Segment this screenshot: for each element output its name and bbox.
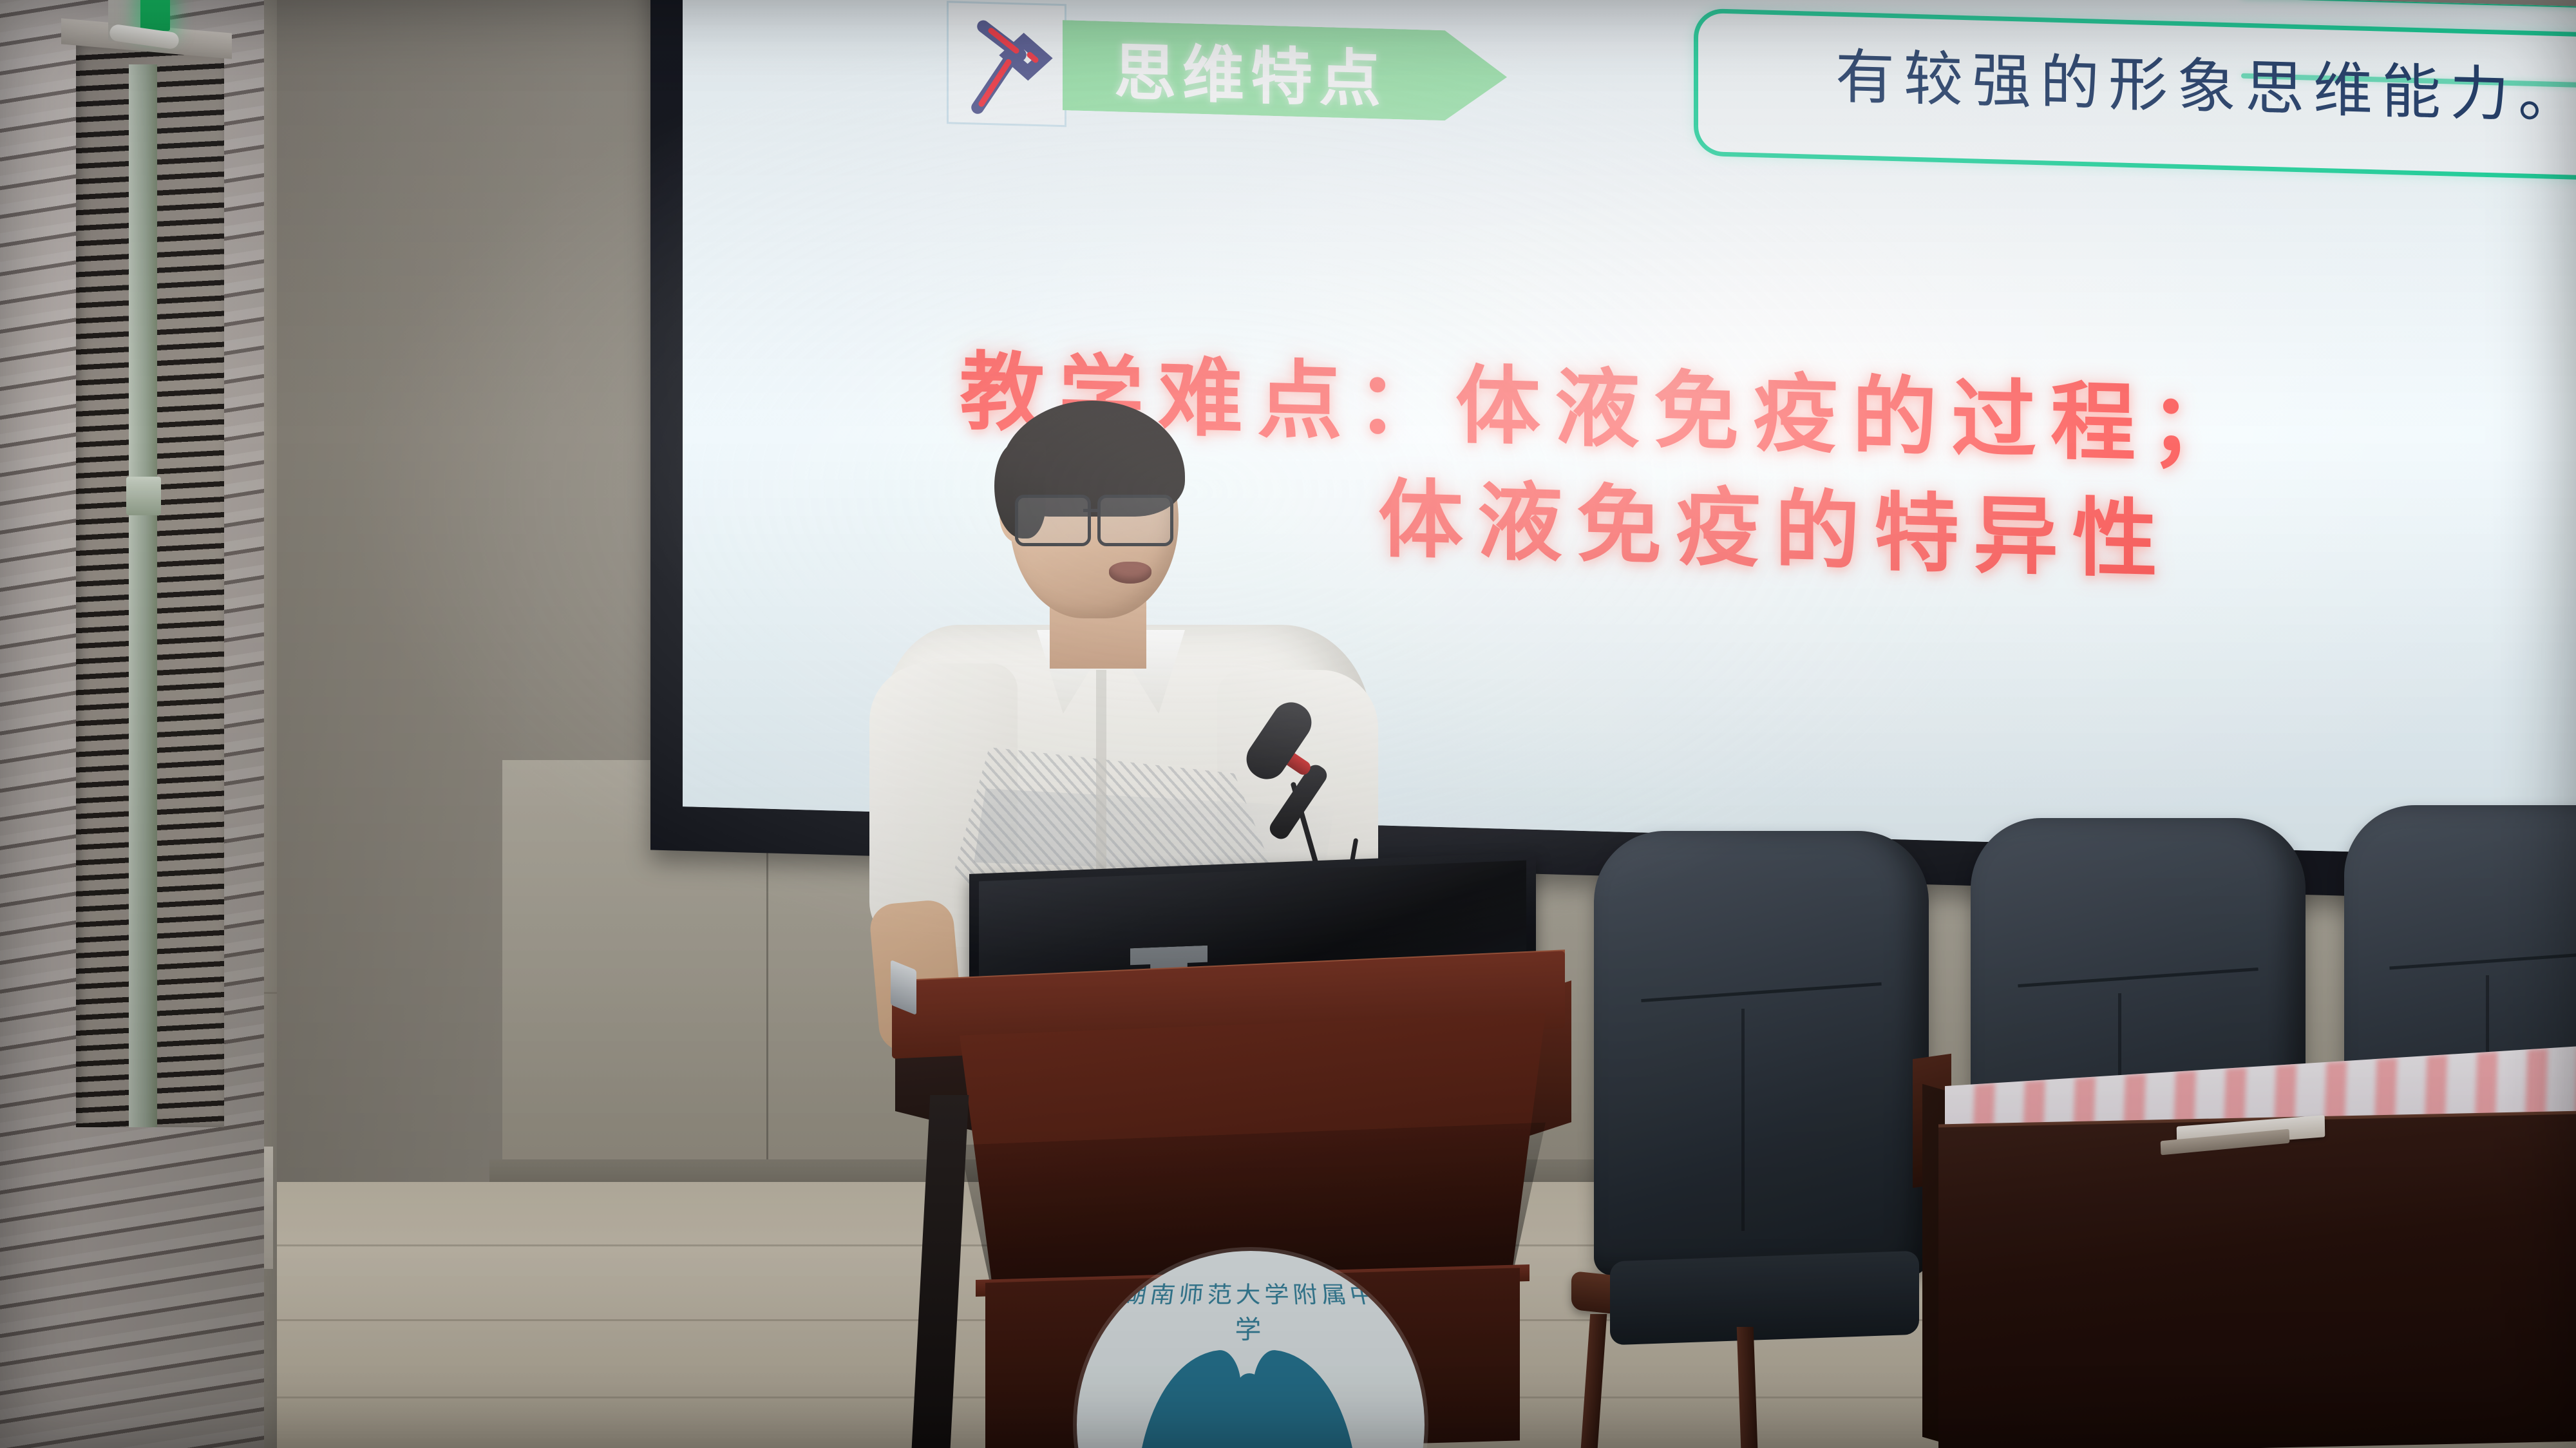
emblem-stem bbox=[1238, 1373, 1261, 1448]
hammer-icon bbox=[960, 10, 1057, 120]
door-handle[interactable] bbox=[126, 477, 161, 515]
chair-seam bbox=[1741, 1009, 1745, 1231]
screenshot-stage: 思维特点 有较强的形象思维能力。 教学难点：体液免疫的过程； 体液免疫的特异性 bbox=[0, 0, 2576, 1448]
door-jamb[interactable] bbox=[129, 64, 157, 1127]
slide-emphasis-line-2: 体液免疫的特异性 bbox=[1378, 450, 2172, 595]
chair-1-seat bbox=[1610, 1251, 1919, 1346]
chair-1[interactable] bbox=[1594, 831, 1929, 1275]
emblem-text: 湖南师范大学附属中学 bbox=[1101, 1277, 1399, 1363]
glasses-lens-right bbox=[1097, 495, 1173, 546]
slide-banner-label: 思维特点 bbox=[1114, 22, 1387, 119]
left-wall bbox=[0, 0, 264, 1448]
slide-banner: 思维特点 bbox=[1063, 20, 1507, 122]
hammer-icon-box bbox=[947, 1, 1066, 127]
school-emblem: 湖南师范大学附属中学 bbox=[1077, 1251, 1425, 1448]
chair-backrest bbox=[1594, 831, 1929, 1275]
glasses-lens-left bbox=[1015, 495, 1091, 546]
glasses-icon bbox=[1015, 495, 1177, 542]
exit-sign bbox=[140, 0, 170, 31]
speaker-mouth bbox=[1109, 562, 1151, 584]
front-table bbox=[1938, 1114, 2576, 1448]
